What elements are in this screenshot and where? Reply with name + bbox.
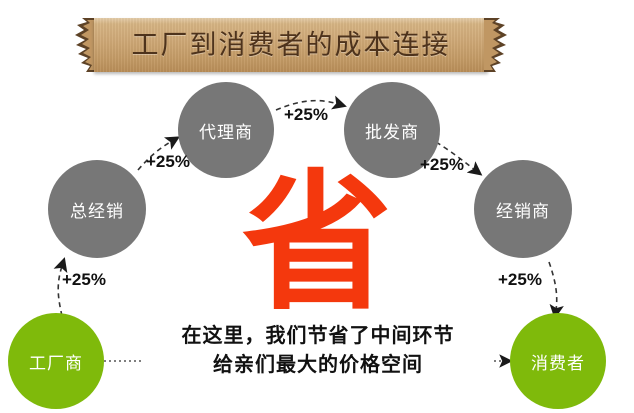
node-label: 批发商 (365, 118, 419, 143)
node-label: 消费者 (531, 349, 585, 374)
node-label: 经销商 (496, 197, 550, 222)
node-zongjingxiao[interactable]: 总经销 (48, 160, 146, 258)
title-banner: 工厂到消费者的成本连接 (72, 18, 510, 72)
slogan-line-1: 在这里，我们节省了中间环节 (182, 325, 455, 347)
markup-label-4: +25% (420, 155, 464, 175)
page-title: 工厂到消费者的成本连接 (72, 18, 510, 72)
markup-label-2: +25% (146, 152, 190, 172)
node-gongchang[interactable]: 工厂商 (8, 313, 104, 409)
dashed-arrow-jingxiaoshang-to-xiaofeizhe (549, 262, 557, 310)
node-jingxiaoshang[interactable]: 经销商 (474, 160, 572, 258)
node-label: 代理商 (199, 118, 253, 143)
markup-label-5: +25% (498, 270, 542, 290)
node-label: 工厂商 (29, 349, 83, 374)
node-label: 总经销 (70, 197, 124, 222)
markup-label-1: +25% (62, 270, 106, 290)
node-xiaofeizhe[interactable]: 消费者 (510, 313, 606, 409)
slogan-line-2: 给亲们最大的价格空间 (142, 351, 494, 380)
markup-label-3: +25% (284, 105, 328, 125)
save-character: 省 (232, 168, 402, 318)
slogan-text: 在这里，我们节省了中间环节 给亲们最大的价格空间 (142, 322, 494, 380)
infographic-canvas: 工厂到消费者的成本连接 总经销 代理商 批发商 经销商 工厂商 (0, 0, 634, 413)
